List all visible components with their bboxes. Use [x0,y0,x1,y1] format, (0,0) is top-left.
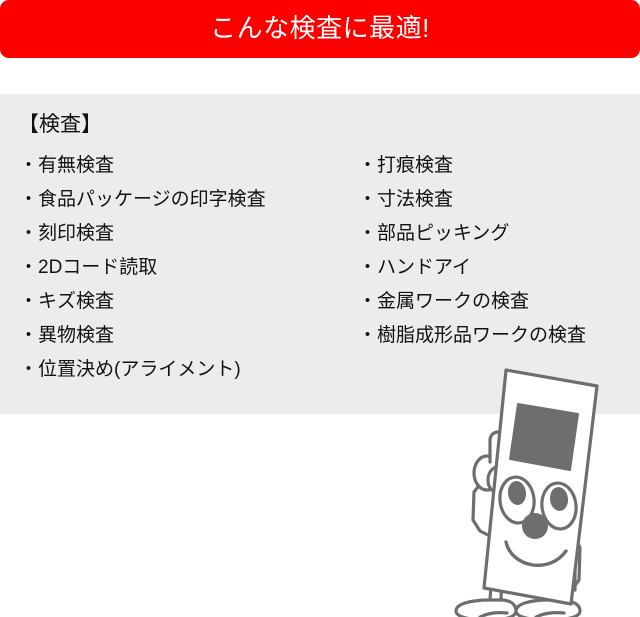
list-item: ・食品パッケージの印字検査 [19,183,266,217]
list-item: ・ハンドアイ [358,251,586,285]
list-item: ・打痕検査 [358,149,586,183]
list-item: ・樹脂成形品ワークの検査 [358,319,586,353]
list-item: ・位置決め(アライメント) [19,353,266,387]
list-item: ・部品ピッキング [358,217,586,251]
list-item: ・刻印検査 [19,217,266,251]
list-item: ・寸法検査 [358,183,586,217]
list-item: ・金属ワークの検査 [358,285,586,319]
list-item: ・キズ検査 [19,285,266,319]
inspection-list-left: ・有無検査 ・食品パッケージの印字検査 ・刻印検査 ・2Dコード読取 ・キズ検査… [19,149,266,387]
list-item: ・異物検査 [19,319,266,353]
page-root: こんな検査に最適! 【検査】 ・有無検査 ・食品パッケージの印字検査 ・刻印検査… [0,0,640,617]
header-banner: こんな検査に最適! [0,0,640,58]
mascot-illustration [440,352,640,617]
list-item: ・2Dコード読取 [19,251,266,285]
inspection-list-right: ・打痕検査 ・寸法検査 ・部品ピッキング ・ハンドアイ ・金属ワークの検査 ・樹… [358,149,586,353]
nose [522,513,548,539]
screen [510,404,578,470]
page-title: こんな検査に最適! [210,15,430,43]
section-heading-inspection: 【検査】 [18,114,102,135]
list-item: ・有無検査 [19,149,266,183]
